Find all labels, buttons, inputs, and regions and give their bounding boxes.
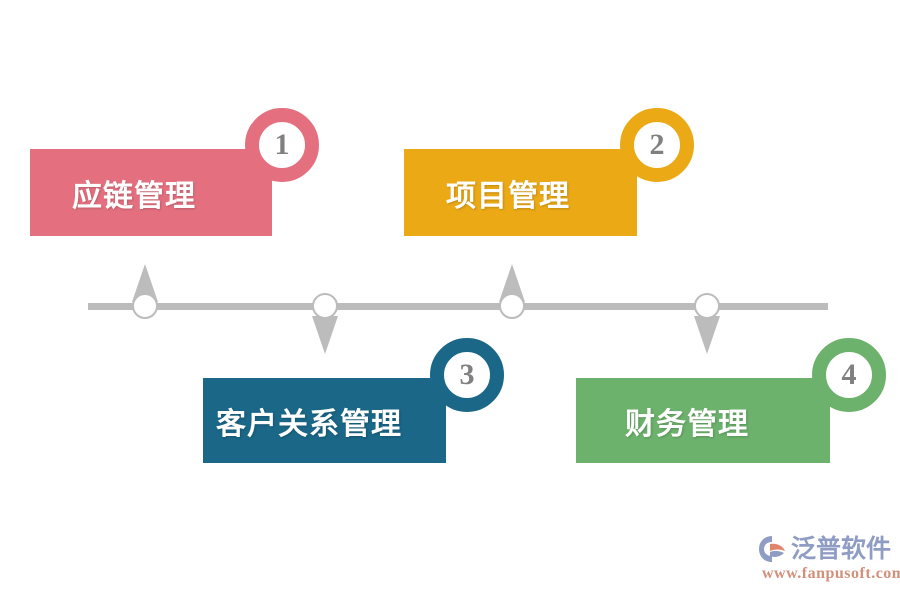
- step-box-supply-chain[interactable]: 应链管理: [30, 149, 272, 236]
- timeline-node-2[interactable]: [312, 293, 338, 319]
- step-label-3: 客户关系管理: [216, 399, 402, 443]
- timeline-node-3[interactable]: [499, 293, 525, 319]
- step-badge-3[interactable]: 3: [430, 338, 504, 412]
- step-badge-2[interactable]: 2: [620, 108, 694, 182]
- timeline-infographic: 应链管理 项目管理 客户关系管理 财务管理 1 2 3 4 泛普软件 www.f…: [0, 0, 900, 600]
- step-box-crm[interactable]: 客户关系管理: [203, 378, 446, 463]
- step-box-finance[interactable]: 财务管理: [576, 378, 830, 463]
- step-label-1: 应链管理: [72, 171, 196, 215]
- watermark: 泛普软件 www.fanpusoft.com: [758, 535, 900, 583]
- step-box-project-management[interactable]: 项目管理: [404, 149, 637, 236]
- step-label-4: 财务管理: [625, 399, 749, 443]
- step-badge-1[interactable]: 1: [245, 108, 319, 182]
- timeline-node-4[interactable]: [694, 293, 720, 319]
- timeline-node-1[interactable]: [132, 293, 158, 319]
- step-badge-number-3: 3: [460, 360, 475, 390]
- step-badge-number-2: 2: [650, 130, 665, 160]
- step-label-2: 项目管理: [446, 171, 570, 215]
- connector-arrow-down-1: [312, 316, 338, 354]
- connector-arrow-down-2: [694, 316, 720, 354]
- watermark-brand-row: 泛普软件: [758, 535, 891, 563]
- fanpusoft-logo-icon: [758, 535, 788, 563]
- watermark-brand-text: 泛普软件: [791, 537, 891, 562]
- step-badge-4[interactable]: 4: [812, 338, 886, 412]
- watermark-url-text: www.fanpusoft.com: [762, 565, 900, 583]
- step-badge-number-1: 1: [275, 130, 290, 160]
- step-badge-number-4: 4: [842, 360, 857, 390]
